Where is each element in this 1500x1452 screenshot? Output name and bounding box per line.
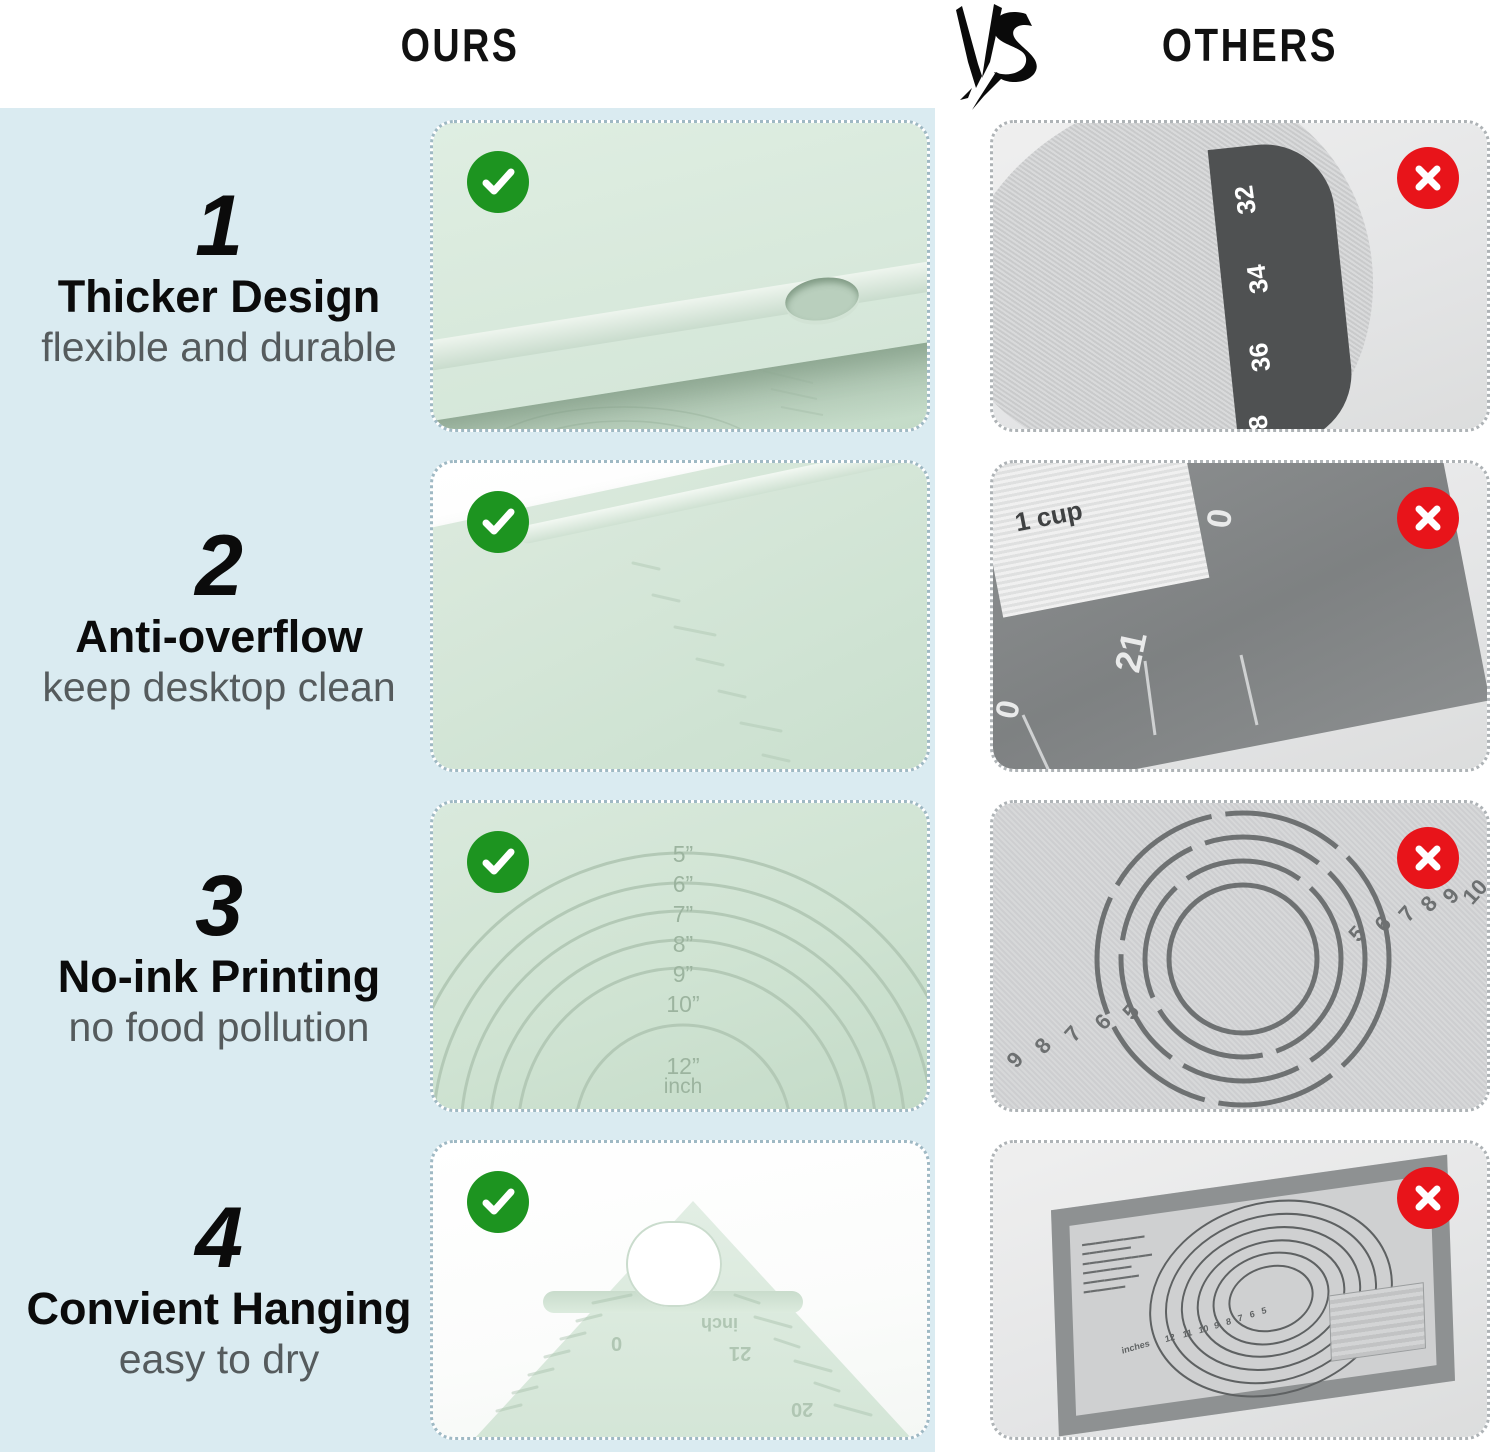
check-circle-icon — [467, 1171, 529, 1233]
feature-text-2: 2 Anti-overflow keep desktop clean — [0, 448, 438, 788]
feature-number: 1 — [195, 184, 243, 268]
ring-label: 8” — [433, 931, 930, 958]
others-scale-number: 32 — [1228, 183, 1263, 216]
feature-text-1: 1 Thicker Design flexible and durable — [0, 108, 438, 448]
comparison-infographic: OURS OTHERS 1 Thicker Design flexible an… — [0, 0, 1500, 1452]
cross-circle-icon — [1397, 1167, 1459, 1229]
printed-recipe-text: ▬▬▬▬▬▬▬▬▬ ▬▬▬▬▬▬▬ ▬▬▬▬▬▬▬▬▬▬ ▬▬▬▬▬▬▬ ▬▬▬… — [1082, 1231, 1153, 1298]
ring-label: 7” — [433, 901, 930, 928]
feature-text-4: 4 Convient Hanging easy to dry — [0, 1128, 438, 1452]
feature-subtitle: flexible and durable — [41, 323, 397, 371]
others-photo-2: 1 cup 0 21 0 — [990, 460, 1490, 772]
ours-tick-label: 0 — [611, 1331, 622, 1354]
feature-subtitle: no food pollution — [69, 1003, 370, 1051]
cross-circle-icon — [1397, 827, 1459, 889]
ours-tick-label: 21 — [729, 1341, 751, 1364]
feature-row-2: 2 Anti-overflow keep desktop clean — [0, 448, 1500, 788]
others-scale-number: 38 — [1242, 413, 1277, 432]
feature-title: Anti-overflow — [75, 613, 363, 662]
feature-subtitle: easy to dry — [119, 1335, 320, 1383]
feature-row-1: 1 Thicker Design flexible and durable — [0, 108, 1500, 448]
cross-circle-icon — [1397, 487, 1459, 549]
others-photo-4: ▬▬▬▬▬▬▬▬▬ ▬▬▬▬▬▬▬ ▬▬▬▬▬▬▬▬▬▬ ▬▬▬▬▬▬▬ ▬▬▬… — [990, 1140, 1490, 1440]
vs-brush-icon — [938, 0, 1058, 112]
ours-photo-1 — [430, 120, 930, 432]
embossed-ruler-decor — [623, 553, 923, 772]
ring-unit-label: inch — [433, 1075, 930, 1099]
header-ours-label: OURS — [181, 18, 739, 72]
ours-tick-label: 20 — [791, 1397, 813, 1420]
others-photo-3: 5 6 7 8 9 10 9 8 7 6 5 — [990, 800, 1490, 1112]
feature-title: Thicker Design — [58, 273, 381, 322]
feature-row-4: 4 Convient Hanging easy to dry — [0, 1128, 1500, 1452]
cross-circle-icon — [1397, 147, 1459, 209]
others-scale-number: 36 — [1243, 341, 1278, 374]
feature-number: 3 — [195, 864, 243, 948]
ours-tick-label: inch — [701, 1313, 738, 1334]
feature-title: Convient Hanging — [27, 1285, 412, 1334]
header-others-label: OTHERS — [1082, 18, 1418, 72]
feature-number: 4 — [195, 1196, 243, 1280]
others-scale-number: 34 — [1241, 263, 1276, 296]
feature-subtitle: keep desktop clean — [42, 663, 395, 711]
ring-label: 9” — [433, 961, 930, 988]
header-bar: OURS OTHERS — [0, 0, 1500, 108]
ours-photo-3: 5” 6” 7” 8” 9” 10” 12” inch — [430, 800, 930, 1112]
embossed-ruler-decor — [473, 1273, 893, 1440]
feature-text-3: 3 No-ink Printing no food pollution — [0, 788, 438, 1128]
check-circle-icon — [467, 831, 529, 893]
printed-conversion-table — [1329, 1282, 1426, 1362]
check-circle-icon — [467, 491, 529, 553]
feature-number: 2 — [195, 524, 243, 608]
feature-title: No-ink Printing — [58, 953, 380, 1002]
ring-label: 10” — [433, 991, 930, 1018]
check-circle-icon — [467, 151, 529, 213]
others-photo-1: 32 34 36 38 — [990, 120, 1490, 432]
ours-photo-4: 0 21 20 inch — [430, 1140, 930, 1440]
feature-row-3: 3 No-ink Printing no food pollution 5” 6… — [0, 788, 1500, 1128]
ours-photo-2 — [430, 460, 930, 772]
embossed-ruler-decor — [757, 361, 917, 431]
